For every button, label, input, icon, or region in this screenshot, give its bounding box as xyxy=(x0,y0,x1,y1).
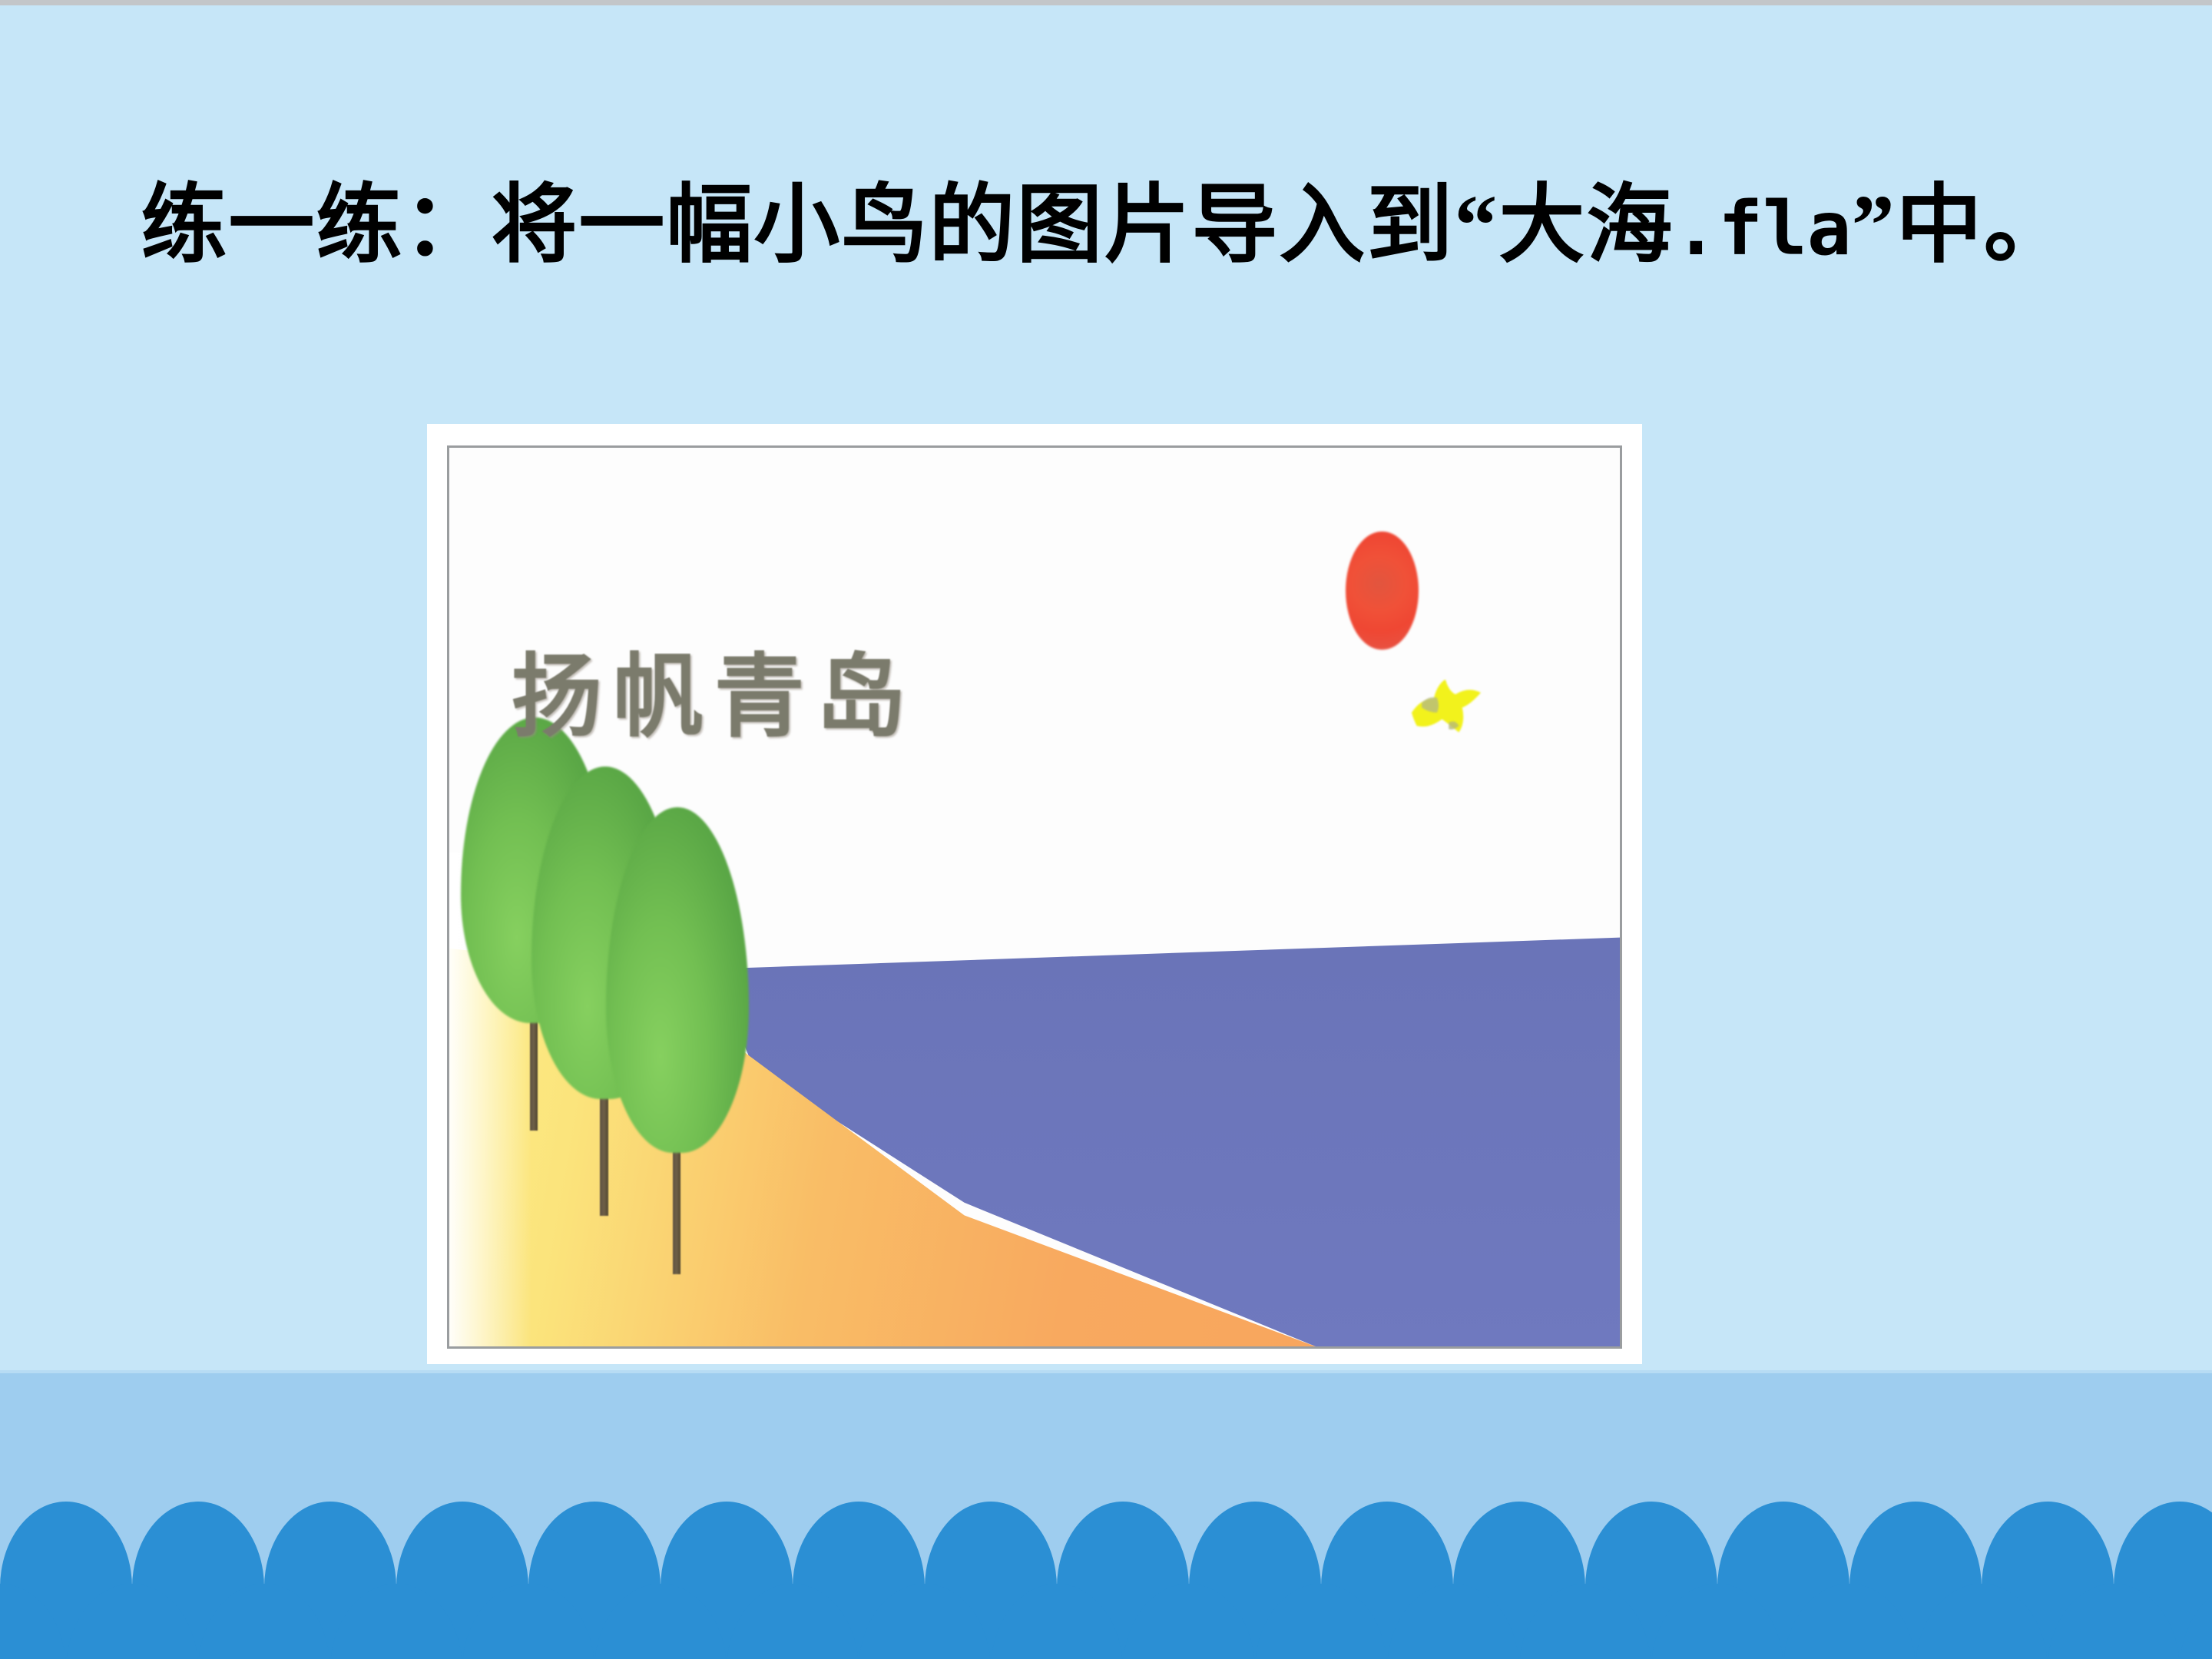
title-suffix: ”中。 xyxy=(1852,178,2071,273)
scallop-row xyxy=(0,1502,2212,1588)
tree-crown xyxy=(606,807,749,1153)
page-title: 练一练：将一幅小鸟的图片导入到“大海.fla”中。 xyxy=(0,183,2212,269)
scallop-shape xyxy=(1916,1584,2048,1659)
scallop-shape xyxy=(1651,1584,1783,1659)
scallop-shape xyxy=(330,1584,462,1659)
scallop-shape xyxy=(1387,1584,1519,1659)
scallop-shape xyxy=(1519,1584,1651,1659)
title-file-extension: .fla xyxy=(1674,186,1851,272)
scallop-shape xyxy=(0,1584,66,1659)
scallop-shape xyxy=(198,1584,330,1659)
tree-item xyxy=(606,807,749,1274)
bottom-decoration-band xyxy=(0,1370,2212,1659)
scallop-shape xyxy=(2180,1584,2212,1659)
scallop-shape xyxy=(1255,1584,1387,1659)
band-hairline xyxy=(0,1370,2212,1373)
flash-stage-area: 扬帆青岛 xyxy=(447,445,1622,1349)
scallop-shape xyxy=(991,1584,1123,1659)
slide-canvas: 练一练：将一幅小鸟的图片导入到“大海.fla”中。 xyxy=(0,0,2212,1659)
title-prefix: 练一练：将一幅小鸟的图片导入到“大海 xyxy=(141,178,1674,273)
scallop-shape xyxy=(66,1584,198,1659)
scallop-shape xyxy=(462,1584,594,1659)
slide-top-edge xyxy=(0,0,2212,5)
sun-icon xyxy=(1346,531,1418,650)
stage-caption-text: 扬帆青岛 xyxy=(512,623,917,754)
scallop-shape xyxy=(727,1584,859,1659)
scallop-row xyxy=(0,1584,2212,1659)
scallop-shape xyxy=(859,1584,991,1659)
scallop-shape xyxy=(1783,1584,1916,1659)
bird-icon xyxy=(1403,661,1488,744)
scallop-shape xyxy=(2048,1584,2180,1659)
scallop-shape xyxy=(1123,1584,1255,1659)
scallop-shape xyxy=(594,1584,727,1659)
sea-scene-picture[interactable]: 扬帆青岛 xyxy=(427,424,1642,1364)
